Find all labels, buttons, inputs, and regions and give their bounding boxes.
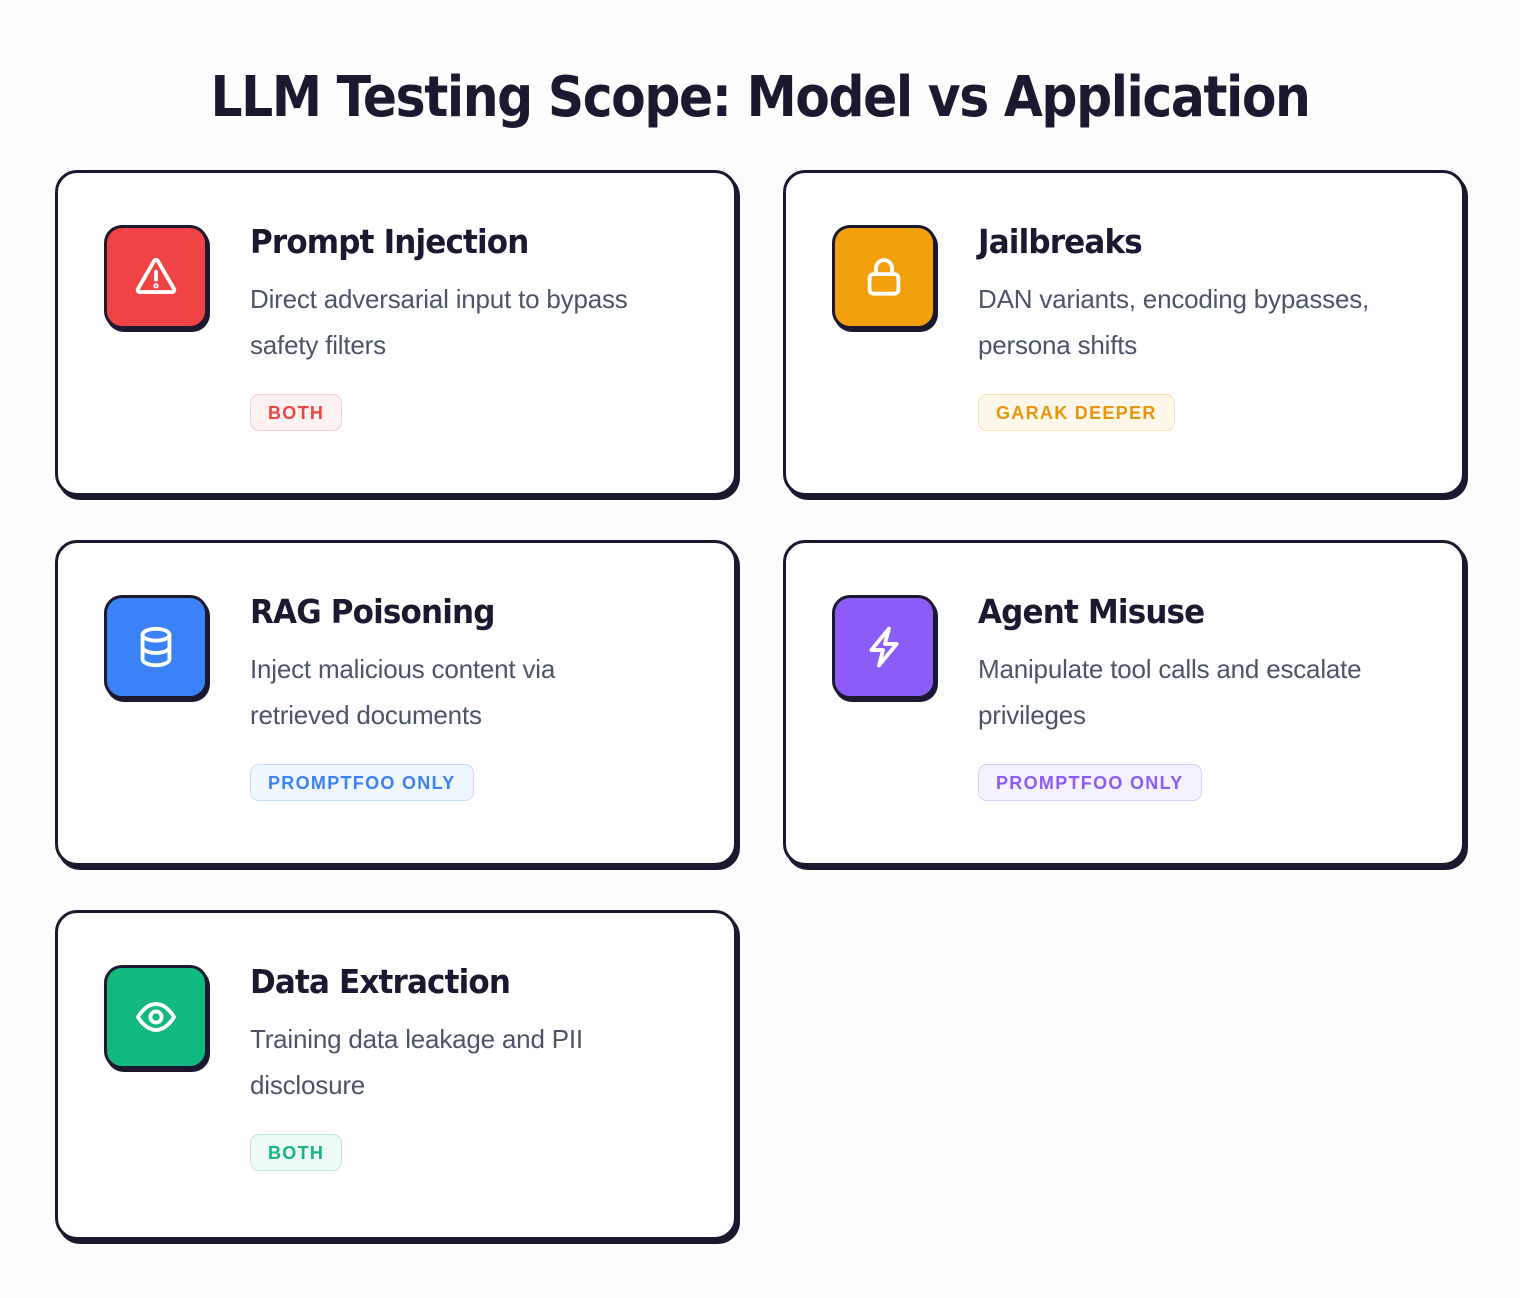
card-description: DAN variants, encoding bypasses, persona… bbox=[978, 276, 1378, 368]
card-prompt-injection[interactable]: Prompt Injection Direct adversarial inpu… bbox=[55, 170, 737, 496]
card-description: Training data leakage and PII disclosure bbox=[250, 1016, 650, 1108]
icon-tile-rag-poisoning bbox=[104, 595, 208, 699]
card-rag-poisoning[interactable]: RAG Poisoning Inject malicious content v… bbox=[55, 540, 737, 866]
icon-tile-agent-misuse bbox=[832, 595, 936, 699]
card-data-extraction[interactable]: Data Extraction Training data leakage an… bbox=[55, 910, 737, 1240]
card-title: Prompt Injection bbox=[250, 223, 667, 262]
infographic-page: LLM Testing Scope: Model vs Application … bbox=[0, 0, 1520, 1298]
status-badge[interactable]: GARAK DEEPER bbox=[978, 394, 1175, 431]
icon-tile-jailbreaks bbox=[832, 225, 936, 329]
status-badge[interactable]: PROMPTFOO ONLY bbox=[250, 764, 474, 801]
card-body-data-extraction: Data Extraction Training data leakage an… bbox=[250, 961, 694, 1171]
card-title: Agent Misuse bbox=[978, 593, 1395, 632]
card-title: Data Extraction bbox=[250, 963, 667, 1002]
card-body-rag-poisoning: RAG Poisoning Inject malicious content v… bbox=[250, 591, 694, 801]
card-body-prompt-injection: Prompt Injection Direct adversarial inpu… bbox=[250, 221, 694, 431]
card-title: RAG Poisoning bbox=[250, 593, 667, 632]
lock-icon bbox=[861, 254, 907, 300]
status-badge[interactable]: BOTH bbox=[250, 394, 342, 431]
icon-tile-prompt-injection bbox=[104, 225, 208, 329]
icon-tile-data-extraction bbox=[104, 965, 208, 1069]
card-description: Manipulate tool calls and escalate privi… bbox=[978, 646, 1378, 738]
card-description: Direct adversarial input to bypass safet… bbox=[250, 276, 650, 368]
page-title: LLM Testing Scope: Model vs Application bbox=[76, 66, 1444, 130]
card-grid: Prompt Injection Direct adversarial inpu… bbox=[55, 170, 1465, 1240]
warning-triangle-icon bbox=[133, 254, 179, 300]
card-body-agent-misuse: Agent Misuse Manipulate tool calls and e… bbox=[978, 591, 1422, 801]
lightning-bolt-icon bbox=[861, 624, 907, 670]
database-icon bbox=[133, 624, 179, 670]
card-body-jailbreaks: Jailbreaks DAN variants, encoding bypass… bbox=[978, 221, 1422, 431]
card-title: Jailbreaks bbox=[978, 223, 1395, 262]
status-badge[interactable]: BOTH bbox=[250, 1134, 342, 1171]
eye-icon bbox=[133, 994, 179, 1040]
card-description: Inject malicious content via retrieved d… bbox=[250, 646, 650, 738]
status-badge[interactable]: PROMPTFOO ONLY bbox=[978, 764, 1202, 801]
card-agent-misuse[interactable]: Agent Misuse Manipulate tool calls and e… bbox=[783, 540, 1465, 866]
card-jailbreaks[interactable]: Jailbreaks DAN variants, encoding bypass… bbox=[783, 170, 1465, 496]
